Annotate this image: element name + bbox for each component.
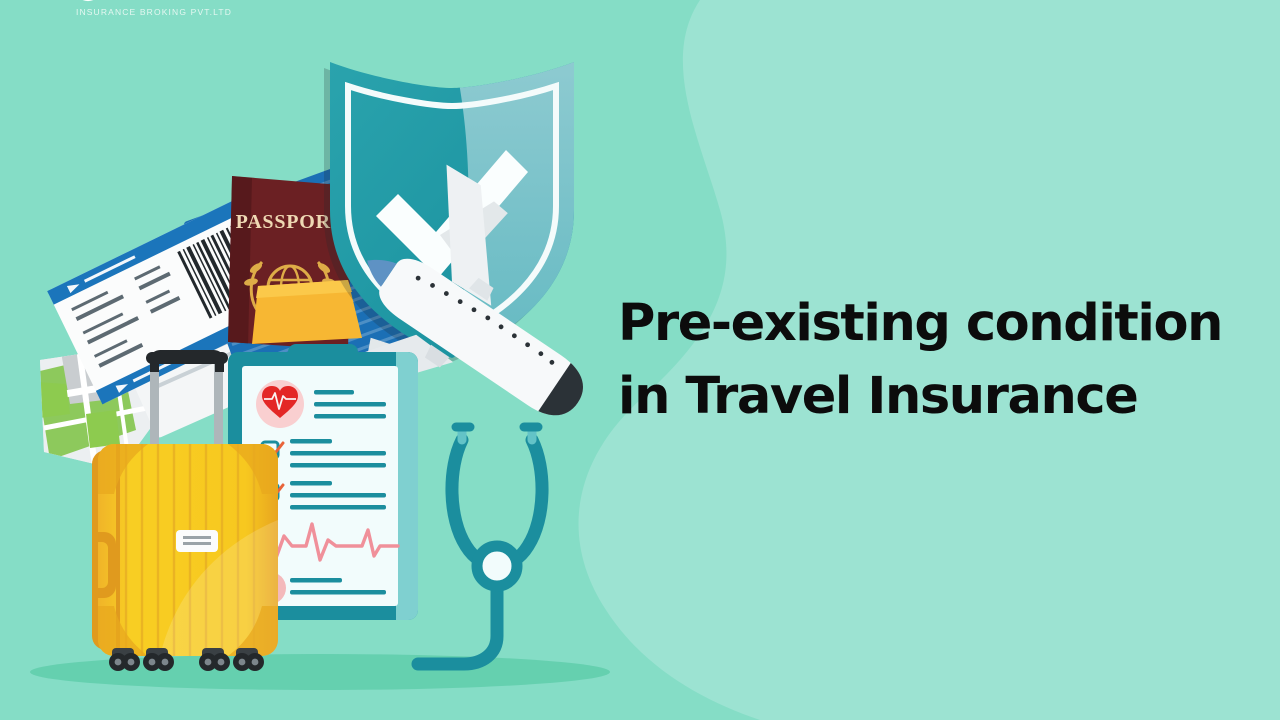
travel-insurance-illustration: AIRWAYS — [0, 0, 680, 720]
slide-canvas: Edhika INSURANCE BROKING PVT.LTD Pre-exi… — [0, 0, 1280, 720]
stethoscope — [418, 427, 542, 664]
page-title: Pre-existing condition in Travel Insuran… — [618, 287, 1258, 434]
brand-wordmark: Edhika — [109, 0, 235, 4]
suitcase-label — [176, 530, 218, 552]
title-line-2: in Travel Insurance — [618, 360, 1258, 433]
title-line-1: Pre-existing condition — [618, 294, 1222, 353]
heart-pulse-icon — [256, 380, 304, 428]
brand-row: Edhika — [44, 0, 264, 4]
circular-logo-mark-icon — [73, 0, 103, 2]
brand-logo[interactable]: Edhika INSURANCE BROKING PVT.LTD — [44, 0, 264, 17]
brand-subtitle: INSURANCE BROKING PVT.LTD — [44, 7, 264, 17]
folder-wedge — [252, 280, 362, 344]
